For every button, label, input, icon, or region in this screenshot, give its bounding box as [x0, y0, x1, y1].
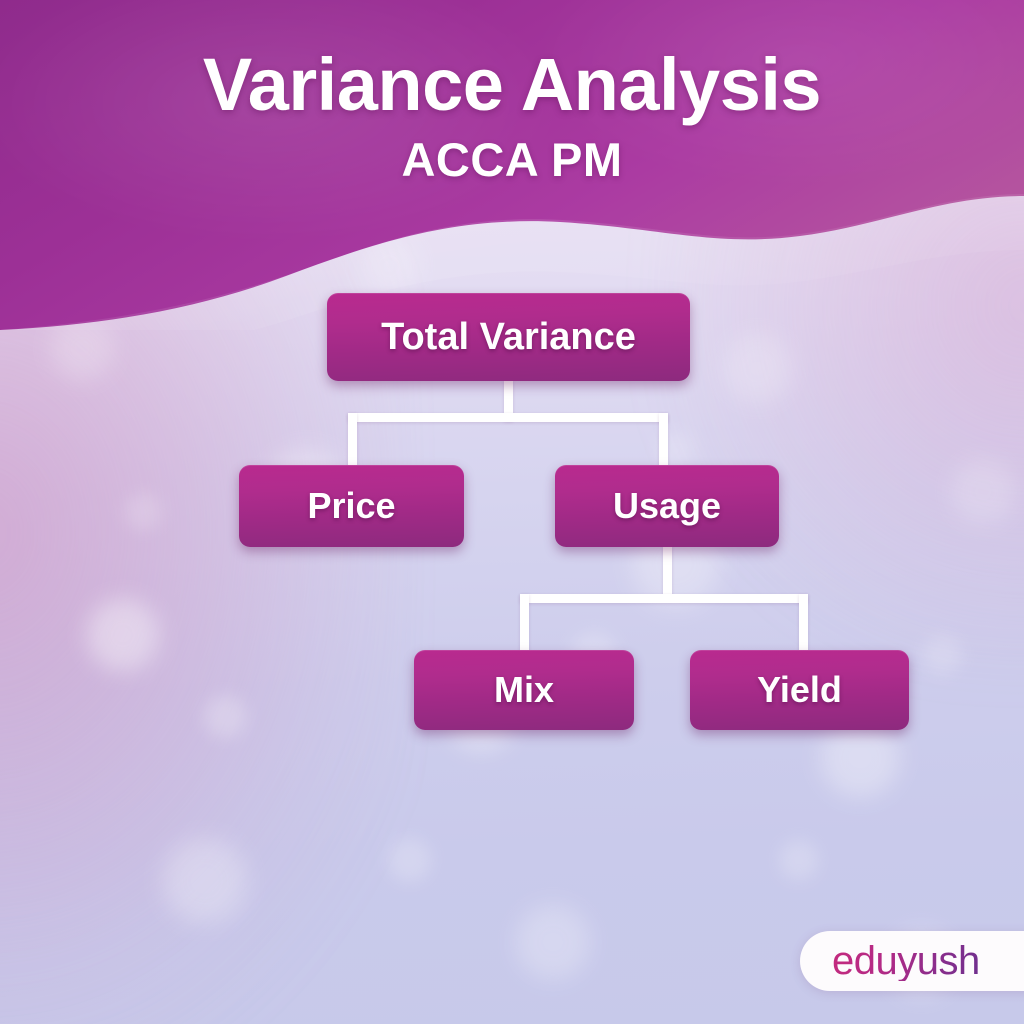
connector-usage-stem [663, 546, 672, 598]
brand-logo-pill[interactable]: eduyush [800, 931, 1024, 991]
poster-canvas: Variance Analysis ACCA PM Total Variance… [0, 0, 1024, 1024]
connector-drop-price [348, 413, 357, 469]
connector-drop-mix [520, 594, 529, 654]
node-label: Price [307, 488, 395, 524]
node-label: Yield [757, 672, 842, 708]
node-label: Total Variance [381, 318, 636, 356]
node-usage[interactable]: Usage [555, 465, 779, 547]
node-price[interactable]: Price [239, 465, 464, 547]
node-total-variance[interactable]: Total Variance [327, 293, 690, 381]
title-block: Variance Analysis ACCA PM [0, 48, 1024, 183]
connector-drop-yield [799, 594, 808, 654]
brand-wordmark: eduyush [832, 941, 980, 981]
node-yield[interactable]: Yield [690, 650, 909, 730]
node-mix[interactable]: Mix [414, 650, 634, 730]
connector-level2-crossbar [520, 594, 808, 603]
page-title: Variance Analysis [0, 48, 1024, 122]
node-label: Mix [494, 672, 554, 708]
node-label: Usage [613, 488, 721, 524]
connector-drop-usage [659, 413, 668, 469]
connector-level1-crossbar [348, 413, 668, 422]
page-subtitle: ACCA PM [0, 136, 1024, 183]
